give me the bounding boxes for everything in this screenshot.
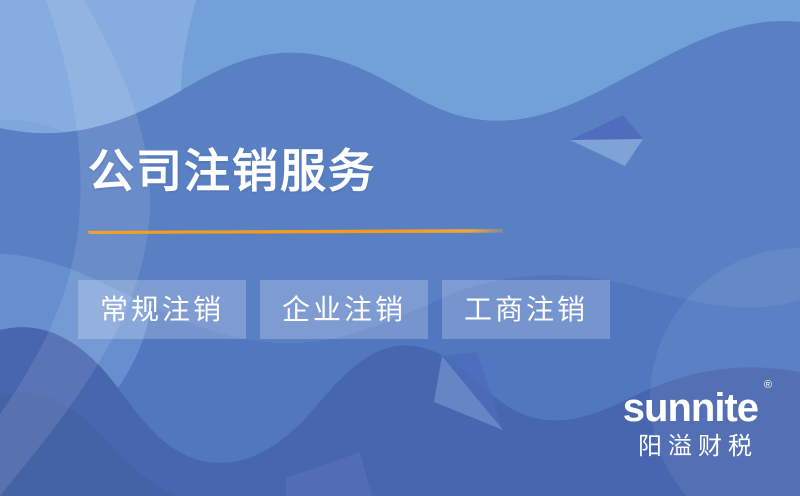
logo-chinese-name: 阳溢财税 xyxy=(623,432,758,462)
registered-trademark-icon: ® xyxy=(764,380,771,391)
service-tag-label: 常规注销 xyxy=(100,296,224,324)
logo-wordmark-text: sunnite xyxy=(623,386,758,430)
company-logo[interactable]: sunnite ® 阳溢财税 xyxy=(623,386,758,462)
service-tag-label: 企业注销 xyxy=(282,296,406,324)
service-tag-enterprise[interactable]: 企业注销 xyxy=(260,280,428,339)
service-tag-list: 常规注销 企业注销 工商注销 xyxy=(78,280,610,339)
service-tag-label: 工商注销 xyxy=(464,296,588,324)
page-title: 公司注销服务 xyxy=(88,142,376,200)
logo-wordmark: sunnite ® xyxy=(623,386,758,430)
service-tag-commerce[interactable]: 工商注销 xyxy=(442,280,610,339)
promotional-banner: 公司注销服务 常规注销 企业注销 工商注销 sunnite ® 阳溢财税 xyxy=(0,0,800,496)
title-underline-rule xyxy=(88,229,503,234)
service-tag-regular[interactable]: 常规注销 xyxy=(78,280,246,339)
